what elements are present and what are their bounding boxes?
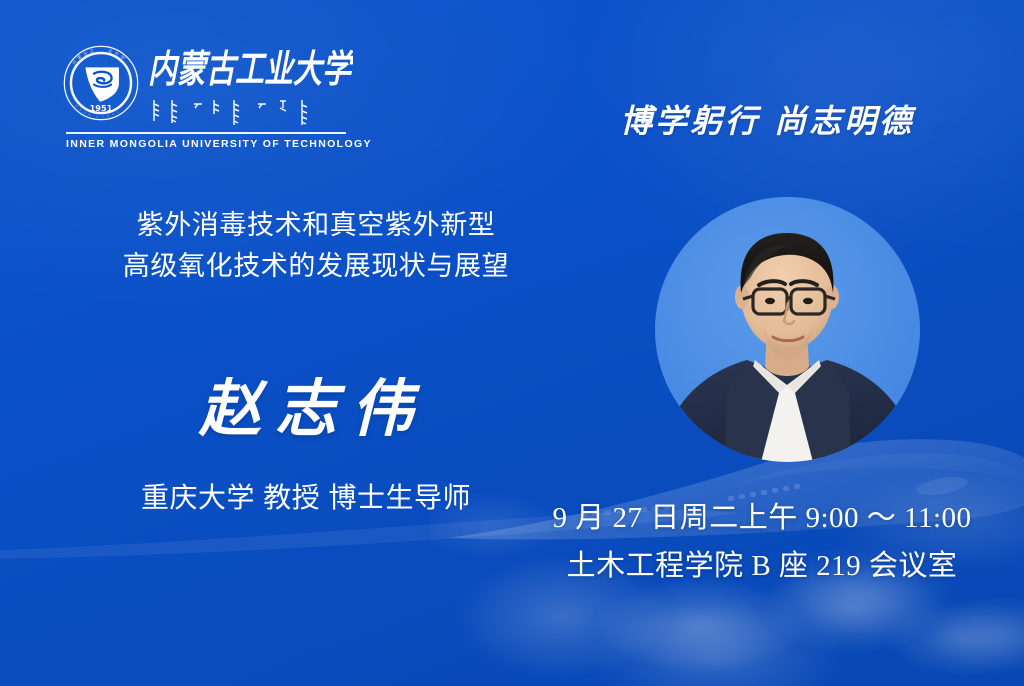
portrait-photo: [655, 197, 920, 462]
lecture-title-line-2: 高级氧化技术的发展现状与展望: [36, 246, 596, 287]
university-logo: 内 蒙 古 工 业 大 学 I N N E R M O N G: [62, 40, 352, 160]
speaker-name: 赵志伟: [36, 358, 576, 448]
svg-text:N: N: [79, 107, 82, 111]
university-name-cn-text: 内蒙古工业大学: [148, 46, 353, 91]
svg-text:N: N: [107, 114, 110, 117]
lecture-poster: 内 蒙 古 工 业 大 学 I N N E R M O N G: [0, 0, 1024, 686]
university-name-mn: [150, 96, 350, 126]
logo-divider: [66, 132, 346, 134]
event-venue: 土木工程学院 B 座 219 会议室: [500, 542, 1024, 590]
event-datetime: 9 月 27 日周二上午 9:00 ～ 11:00: [500, 494, 1024, 542]
speaker-portrait: [655, 197, 920, 462]
lecture-title-line-1: 紫外消毒技术和真空紫外新型: [36, 205, 596, 246]
university-motto: 博学躬行 尚志明德: [620, 96, 950, 142]
university-seal-icon: 内 蒙 古 工 业 大 学 I N N E R M O N G: [62, 44, 140, 122]
university-name-en: INNER MONGOLIA UNIVERSITY OF TECHNOLOGY: [66, 138, 348, 150]
svg-text:E: E: [101, 115, 103, 118]
portrait-circle-background: [655, 197, 920, 462]
svg-text:I: I: [116, 110, 118, 113]
svg-text:G: G: [75, 104, 79, 108]
event-info: 9 月 27 日周二上午 9:00 ～ 11:00 土木工程学院 B 座 219…: [500, 494, 1024, 590]
lecture-title: 紫外消毒技术和真空紫外新型 高级氧化技术的发展现状与展望: [36, 205, 596, 287]
svg-text:O: O: [83, 110, 86, 114]
seal-year: 1951: [90, 103, 113, 113]
svg-text:工: 工: [89, 48, 94, 54]
university-name-cn: 内蒙古工业大学: [148, 42, 353, 96]
svg-text:R: R: [96, 114, 98, 117]
speaker-affiliation: 重庆大学 教授 博士生导师: [36, 476, 576, 516]
